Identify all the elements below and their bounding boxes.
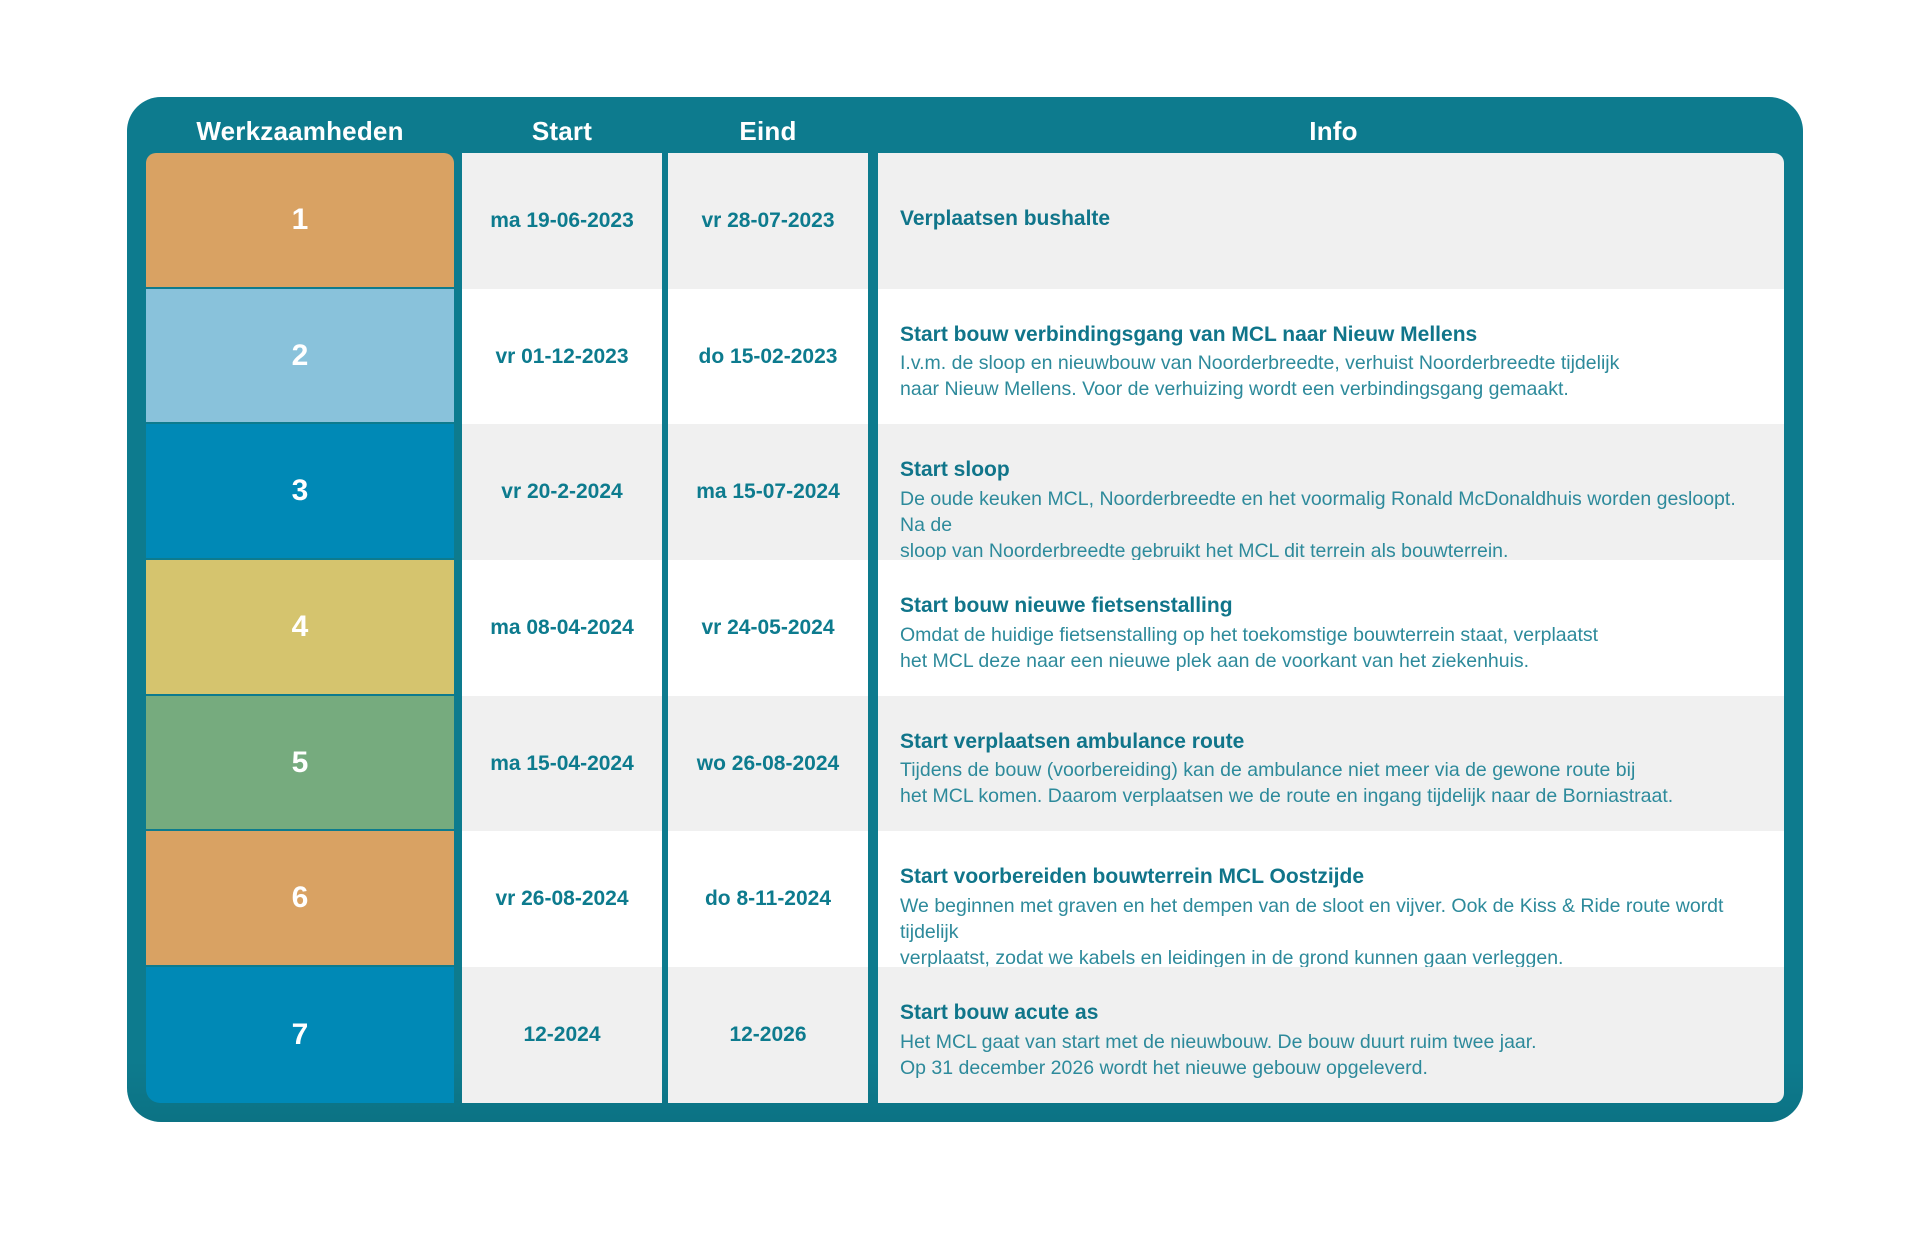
info-title: Verplaatsen bushalte <box>900 205 1762 233</box>
row-number-label: 6 <box>292 881 309 915</box>
end-date-cell: vr 28-07-2023 <box>668 153 868 289</box>
info-cell: Start voorbereiden bouwterrein MCL Oostz… <box>878 831 1784 967</box>
table-row: 2vr 01-12-2023do 15-02-2023Start bouw ve… <box>146 289 1784 425</box>
start-date-label: 12-2024 <box>523 1023 600 1047</box>
info-body-line: I.v.m. de sloop en nieuwbouw van Noorder… <box>900 351 1762 377</box>
end-date-cell: ma 15-07-2024 <box>668 424 868 560</box>
info-body: Het MCL gaat van start met de nieuwbouw.… <box>900 1030 1762 1082</box>
info-body-line: Omdat de huidige fietsenstalling op het … <box>900 623 1762 649</box>
start-date-label: ma 19-06-2023 <box>490 209 634 233</box>
column-divider <box>868 289 878 425</box>
end-date-label: do 8-11-2024 <box>705 887 831 911</box>
info-title: Start sloop <box>900 456 1762 484</box>
end-date-label: 12-2026 <box>729 1023 806 1047</box>
info-cell: Start verplaatsen ambulance routeTijdens… <box>878 696 1784 832</box>
column-header-start: Start <box>462 116 662 153</box>
info-title: Start bouw acute as <box>900 999 1762 1027</box>
start-date-label: ma 15-04-2024 <box>490 752 634 776</box>
info-title: Start verplaatsen ambulance route <box>900 728 1762 756</box>
info-cell: Start bouw acute asHet MCL gaat van star… <box>878 967 1784 1103</box>
column-header-eind: Eind <box>668 116 868 153</box>
info-body: We beginnen met graven en het dempen van… <box>900 894 1762 972</box>
row-number-cell: 5 <box>146 696 454 830</box>
column-divider <box>454 696 462 832</box>
table-row: 5ma 15-04-2024wo 26-08-2024Start verplaa… <box>146 696 1784 832</box>
row-number-label: 3 <box>292 474 309 508</box>
info-body-line: het MCL deze naar een nieuwe plek aan de… <box>900 649 1762 675</box>
info-body: Tijdens de bouw (voorbereiding) kan de a… <box>900 758 1762 810</box>
column-divider <box>868 696 878 832</box>
row-number-label: 5 <box>292 746 309 780</box>
info-title: Start bouw verbindingsgang van MCL naar … <box>900 321 1762 349</box>
start-date-cell: vr 20-2-2024 <box>462 424 662 560</box>
start-date-cell: ma 15-04-2024 <box>462 696 662 832</box>
start-date-cell: 12-2024 <box>462 967 662 1103</box>
column-divider <box>868 831 878 967</box>
table-row: 712-202412-2026Start bouw acute asHet MC… <box>146 967 1784 1103</box>
info-body-line: Op 31 december 2026 wordt het nieuwe geb… <box>900 1056 1762 1082</box>
start-date-cell: vr 01-12-2023 <box>462 289 662 425</box>
column-divider <box>868 424 878 560</box>
end-date-cell: vr 24-05-2024 <box>668 560 868 696</box>
row-number-cell: 4 <box>146 560 454 694</box>
end-date-cell: do 8-11-2024 <box>668 831 868 967</box>
table-row: 4ma 08-04-2024vr 24-05-2024Start bouw ni… <box>146 560 1784 696</box>
info-body-line: het MCL komen. Daarom verplaatsen we de … <box>900 784 1762 810</box>
info-cell: Start bouw nieuwe fietsenstallingOmdat d… <box>878 560 1784 696</box>
schedule-table-body: 1ma 19-06-2023vr 28-07-2023Verplaatsen b… <box>146 153 1784 1103</box>
end-date-label: vr 28-07-2023 <box>701 209 834 233</box>
info-cell: Start bouw verbindingsgang van MCL naar … <box>878 289 1784 425</box>
schedule-table-frame: Werkzaamheden Start Eind Info 1ma 19-06-… <box>127 97 1803 1122</box>
column-divider <box>454 560 462 696</box>
column-divider <box>868 153 878 289</box>
column-divider <box>454 831 462 967</box>
info-body-line: De oude keuken MCL, Noorderbreedte en he… <box>900 487 1762 539</box>
end-date-label: ma 15-07-2024 <box>696 480 840 504</box>
info-cell: Verplaatsen bushalte <box>878 153 1784 289</box>
info-body-line: We beginnen met graven en het dempen van… <box>900 894 1762 946</box>
column-divider <box>868 560 878 696</box>
start-date-label: ma 08-04-2024 <box>490 616 634 640</box>
row-number-cell: 7 <box>146 967 454 1103</box>
column-header-werkzaamheden: Werkzaamheden <box>146 116 454 153</box>
row-number-label: 7 <box>292 1018 309 1052</box>
end-date-cell: 12-2026 <box>668 967 868 1103</box>
row-number-cell: 2 <box>146 289 454 423</box>
info-body: De oude keuken MCL, Noorderbreedte en he… <box>900 487 1762 565</box>
info-body: I.v.m. de sloop en nieuwbouw van Noorder… <box>900 351 1762 403</box>
column-divider <box>454 967 462 1103</box>
start-date-label: vr 20-2-2024 <box>501 480 622 504</box>
table-row: 3vr 20-2-2024ma 15-07-2024Start sloopDe … <box>146 424 1784 560</box>
end-date-label: wo 26-08-2024 <box>697 752 839 776</box>
info-cell: Start sloopDe oude keuken MCL, Noorderbr… <box>878 424 1784 560</box>
end-date-cell: wo 26-08-2024 <box>668 696 868 832</box>
start-date-cell: ma 08-04-2024 <box>462 560 662 696</box>
row-number-label: 2 <box>292 339 309 373</box>
start-date-label: vr 26-08-2024 <box>495 887 628 911</box>
end-date-label: do 15-02-2023 <box>699 345 838 369</box>
column-divider <box>454 153 462 289</box>
row-number-label: 1 <box>292 203 309 237</box>
row-number-cell: 3 <box>146 424 454 558</box>
table-row: 6vr 26-08-2024do 8-11-2024Start voorbere… <box>146 831 1784 967</box>
column-header-info: Info <box>878 116 1789 153</box>
end-date-cell: do 15-02-2023 <box>668 289 868 425</box>
info-title: Start voorbereiden bouwterrein MCL Oostz… <box>900 863 1762 891</box>
column-divider <box>454 424 462 560</box>
info-body-line: Het MCL gaat van start met de nieuwbouw.… <box>900 1030 1762 1056</box>
info-body: Omdat de huidige fietsenstalling op het … <box>900 623 1762 675</box>
info-body-line: Tijdens de bouw (voorbereiding) kan de a… <box>900 758 1762 784</box>
info-body-line: naar Nieuw Mellens. Voor de verhuizing w… <box>900 377 1762 403</box>
row-number-label: 4 <box>292 610 309 644</box>
info-title: Start bouw nieuwe fietsenstalling <box>900 592 1762 620</box>
table-header-row: Werkzaamheden Start Eind Info <box>127 97 1803 153</box>
start-date-label: vr 01-12-2023 <box>495 345 628 369</box>
row-number-cell: 1 <box>146 153 454 287</box>
end-date-label: vr 24-05-2024 <box>701 616 834 640</box>
column-divider <box>868 967 878 1103</box>
start-date-cell: vr 26-08-2024 <box>462 831 662 967</box>
column-divider <box>454 289 462 425</box>
table-row: 1ma 19-06-2023vr 28-07-2023Verplaatsen b… <box>146 153 1784 289</box>
row-number-cell: 6 <box>146 831 454 965</box>
start-date-cell: ma 19-06-2023 <box>462 153 662 289</box>
